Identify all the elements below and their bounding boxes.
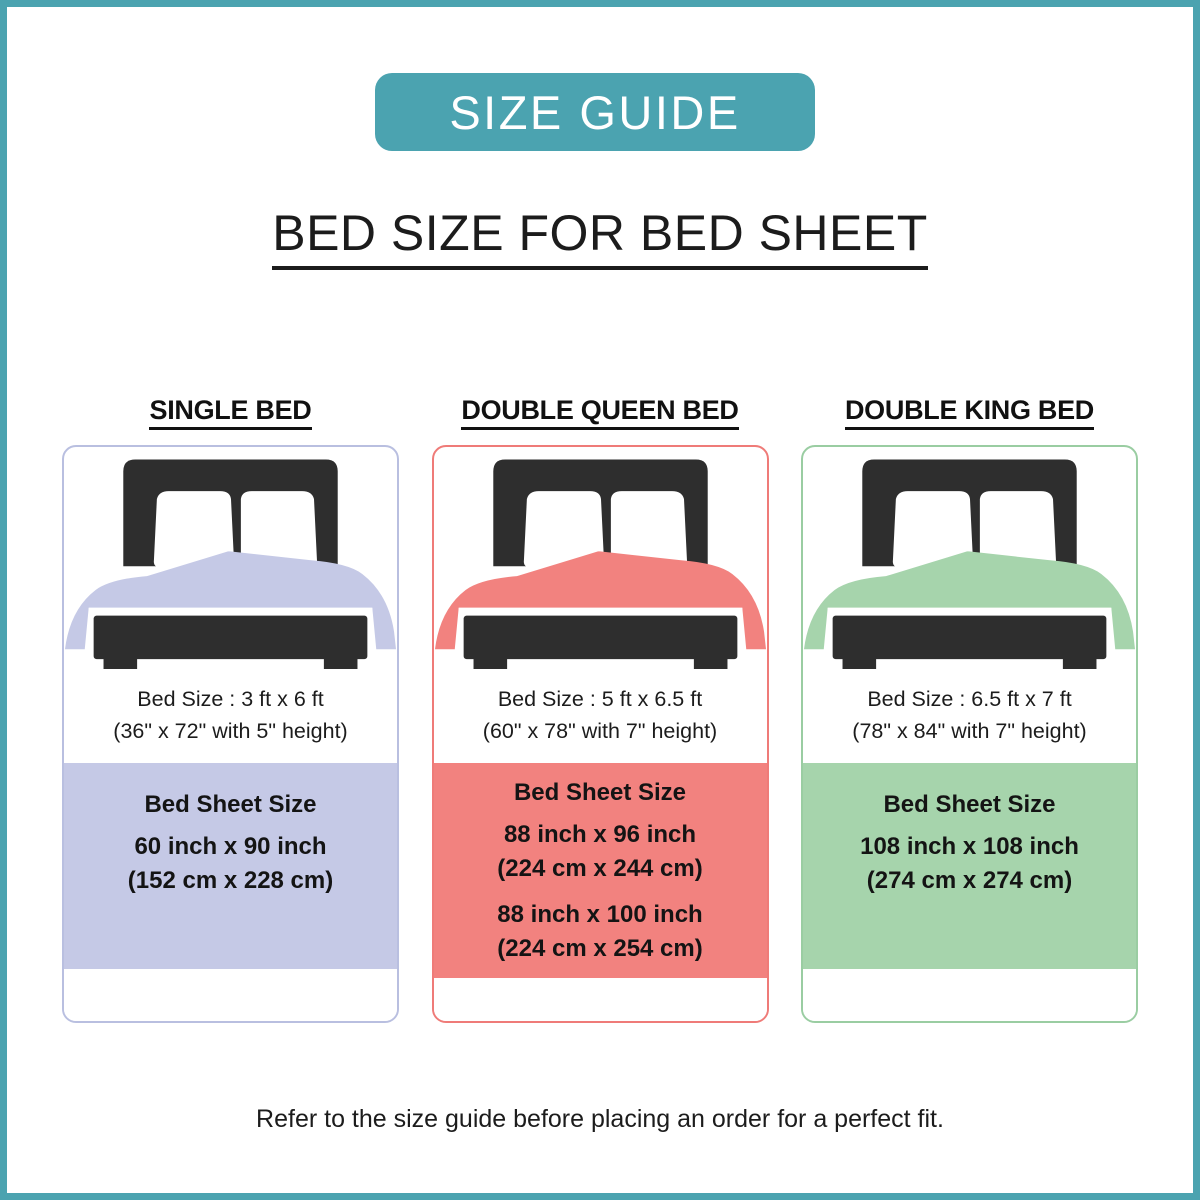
- bed-size-card[interactable]: Bed Size : 6.5 ft x 7 ft(78" x 84" with …: [801, 445, 1138, 1023]
- sheet-size-title: Bed Sheet Size: [809, 791, 1130, 819]
- column-heading: DOUBLE KING BED: [801, 395, 1138, 426]
- bed-size-card[interactable]: Bed Size : 5 ft x 6.5 ft(60" x 78" with …: [432, 445, 769, 1023]
- bed-size-caption: Bed Size : 5 ft x 6.5 ft(60" x 78" with …: [434, 669, 767, 763]
- bed-column: DOUBLE KING BED Bed Size : 6.5 ft x 7 ft…: [801, 395, 1138, 1023]
- sheet-size-inches: 60 inch x 90 inch: [70, 830, 391, 864]
- sheet-size-title: Bed Sheet Size: [70, 791, 391, 819]
- card-footer-strip: [64, 969, 397, 1021]
- bed-size-line-1: Bed Size : 3 ft x 6 ft: [68, 683, 393, 715]
- footer-note: Refer to the size guide before placing a…: [7, 1105, 1193, 1134]
- sheet-size-cm: (224 cm x 244 cm): [440, 852, 761, 886]
- column-heading-text: SINGLE BED: [149, 395, 311, 430]
- column-heading-text: DOUBLE KING BED: [845, 395, 1094, 430]
- size-guide-page: SIZE GUIDE BED SIZE FOR BED SHEET SINGLE…: [0, 0, 1200, 1200]
- sheet-size-block: Bed Sheet Size60 inch x 90 inch(152 cm x…: [64, 763, 397, 969]
- bed-column: DOUBLE QUEEN BED Bed Size : 5 ft x 6.5 f…: [432, 395, 769, 1023]
- sheet-size-block: Bed Sheet Size108 inch x 108 inch(274 cm…: [803, 763, 1136, 969]
- sheet-size-inches: 88 inch x 96 inch: [440, 818, 761, 852]
- bed-size-caption: Bed Size : 3 ft x 6 ft(36" x 72" with 5"…: [64, 669, 397, 763]
- card-footer-strip: [803, 969, 1136, 1021]
- sheet-size-cm: (152 cm x 228 cm): [70, 864, 391, 898]
- bed-illustration: [434, 447, 767, 669]
- column-heading: SINGLE BED: [62, 395, 399, 426]
- size-guide-banner: SIZE GUIDE: [375, 73, 815, 151]
- bed-size-line-1: Bed Size : 6.5 ft x 7 ft: [807, 683, 1132, 715]
- sheet-size-option: 60 inch x 90 inch(152 cm x 228 cm): [70, 830, 391, 898]
- page-title: BED SIZE FOR BED SHEET: [7, 204, 1193, 262]
- bed-size-columns: SINGLE BED Bed Size : 3 ft x 6 ft(36" x …: [62, 395, 1138, 1023]
- bed-size-line-2: (36" x 72" with 5" height): [68, 715, 393, 747]
- column-heading: DOUBLE QUEEN BED: [432, 395, 769, 426]
- sheet-size-inches: 108 inch x 108 inch: [809, 830, 1130, 864]
- sheet-size-cm: (274 cm x 274 cm): [809, 864, 1130, 898]
- bed-illustration: [64, 447, 397, 669]
- card-footer-strip: [434, 978, 767, 1023]
- sheet-size-block: Bed Sheet Size88 inch x 96 inch(224 cm x…: [434, 763, 767, 978]
- sheet-size-option: 108 inch x 108 inch(274 cm x 274 cm): [809, 830, 1130, 898]
- sheet-size-title: Bed Sheet Size: [440, 779, 761, 807]
- bed-size-caption: Bed Size : 6.5 ft x 7 ft(78" x 84" with …: [803, 669, 1136, 763]
- column-heading-text: DOUBLE QUEEN BED: [461, 395, 738, 430]
- sheet-size-cm: (224 cm x 254 cm): [440, 932, 761, 966]
- sheet-size-option: 88 inch x 100 inch(224 cm x 254 cm): [440, 898, 761, 966]
- bed-size-line-2: (60" x 78" with 7" height): [438, 715, 763, 747]
- bed-size-line-2: (78" x 84" with 7" height): [807, 715, 1132, 747]
- bed-size-card[interactable]: Bed Size : 3 ft x 6 ft(36" x 72" with 5"…: [62, 445, 399, 1023]
- bed-illustration: [803, 447, 1136, 669]
- sheet-size-inches: 88 inch x 100 inch: [440, 898, 761, 932]
- sheet-size-option: 88 inch x 96 inch(224 cm x 244 cm): [440, 818, 761, 886]
- bed-size-line-1: Bed Size : 5 ft x 6.5 ft: [438, 683, 763, 715]
- page-title-text: BED SIZE FOR BED SHEET: [272, 205, 928, 270]
- banner-label: SIZE GUIDE: [449, 85, 740, 140]
- bed-column: SINGLE BED Bed Size : 3 ft x 6 ft(36" x …: [62, 395, 399, 1023]
